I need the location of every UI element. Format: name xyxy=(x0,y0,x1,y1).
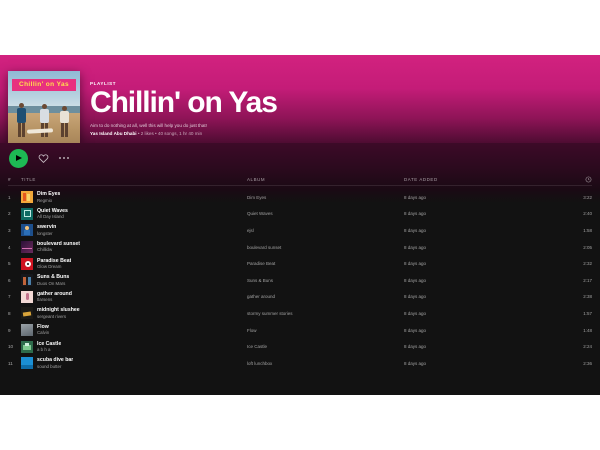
table-row[interactable]: 1Dim EyesRegmioDim Eyes8 days ago3:22 xyxy=(8,189,592,206)
track-date-added: 8 days ago xyxy=(404,311,564,316)
track-date-added: 8 days ago xyxy=(404,245,564,250)
track-index: 3 xyxy=(8,228,21,233)
track-duration: 3:22 xyxy=(583,195,592,200)
cover-art-title-text: Chillin' on Yas xyxy=(12,79,76,91)
track-thumbnail xyxy=(21,191,33,203)
play-icon xyxy=(16,155,22,161)
track-thumbnail xyxy=(21,324,33,336)
track-artist[interactable]: a b h a xyxy=(37,347,61,353)
playlist-likes: 2 likes xyxy=(141,131,154,136)
track-duration: 2:40 xyxy=(583,211,592,216)
column-header-title: TITLE xyxy=(21,177,247,182)
track-index: 4 xyxy=(8,245,21,250)
more-options-button[interactable] xyxy=(59,157,69,159)
playlist-metadata: Yas Island Abu Dhabi • 2 likes • 40 song… xyxy=(90,131,277,137)
meta-sep-2: • xyxy=(155,131,157,136)
track-thumbnail xyxy=(21,208,33,220)
track-album[interactable]: Dim Eyes xyxy=(247,195,404,200)
track-date-added: 8 days ago xyxy=(404,211,564,216)
table-row[interactable]: 9FlowCalvinFlow8 days ago1:48 xyxy=(8,322,592,339)
track-album[interactable]: stormy summer stories xyxy=(247,311,404,316)
column-header-duration xyxy=(585,176,592,183)
track-index: 8 xyxy=(8,311,21,316)
track-thumbnail xyxy=(21,241,33,253)
track-date-added: 8 days ago xyxy=(404,195,564,200)
track-duration: 2:17 xyxy=(583,278,592,283)
track-duration: 2:38 xyxy=(583,294,592,299)
meta-sep-1: • xyxy=(138,131,140,136)
track-index: 7 xyxy=(8,294,21,299)
track-duration: 2:32 xyxy=(583,261,592,266)
playlist-cover-art: Chillin' on Yas xyxy=(8,71,80,143)
track-thumbnail xyxy=(21,224,33,236)
track-album[interactable]: ejsl xyxy=(247,228,404,233)
track-artist[interactable]: Glow Dream xyxy=(37,264,71,270)
table-row[interactable]: 3swervinlongsterejsl8 days ago1:58 xyxy=(8,222,592,239)
track-title[interactable]: swervin xyxy=(37,224,56,230)
table-row[interactable]: 10Ice Castlea b h aIce Castle8 days ago2… xyxy=(8,338,592,355)
track-artist[interactable]: Duos On Mars xyxy=(37,281,69,287)
track-duration: 1:58 xyxy=(583,228,592,233)
track-artist[interactable]: Calvin xyxy=(37,330,49,336)
track-thumbnail xyxy=(21,307,33,319)
playlist-song-count: 40 songs xyxy=(158,131,177,136)
column-header-index: # xyxy=(8,177,21,182)
track-date-added: 8 days ago xyxy=(404,328,564,333)
track-date-added: 8 days ago xyxy=(404,294,564,299)
track-index: 10 xyxy=(8,344,21,349)
track-thumbnail xyxy=(21,341,33,353)
track-date-added: 8 days ago xyxy=(404,361,564,366)
like-button[interactable] xyxy=(38,153,49,164)
dot-icon xyxy=(67,157,69,159)
track-album[interactable]: Ice Castle xyxy=(247,344,404,349)
track-index: 6 xyxy=(8,278,21,283)
track-duration: 2:36 xyxy=(583,361,592,366)
track-date-added: 8 days ago xyxy=(404,278,564,283)
clock-icon xyxy=(585,176,592,183)
dot-icon xyxy=(63,157,65,159)
playlist-controls xyxy=(0,143,600,173)
track-duration: 1:57 xyxy=(583,311,592,316)
playlist-description: Aim to do nothing at all, well this will… xyxy=(90,123,277,129)
track-album[interactable]: Paradise Beat xyxy=(247,261,404,266)
track-index: 1 xyxy=(8,195,21,200)
table-row[interactable]: 5Paradise BeatGlow DreamParadise Beat8 d… xyxy=(8,255,592,272)
track-thumbnail xyxy=(21,291,33,303)
playlist-owner[interactable]: Yas Island Abu Dhabi xyxy=(90,131,137,136)
cover-art-title-band: Chillin' on Yas xyxy=(12,79,76,91)
track-artist[interactable]: sound butter xyxy=(37,364,73,370)
heart-icon xyxy=(38,153,49,164)
track-album[interactable]: Flow xyxy=(247,328,404,333)
track-list: 1Dim EyesRegmioDim Eyes8 days ago3:222Qu… xyxy=(8,189,592,372)
track-thumbnail xyxy=(21,274,33,286)
track-album[interactable]: Suns & Buns xyxy=(247,278,404,283)
track-date-added: 8 days ago xyxy=(404,261,564,266)
column-header-album: ALBUM xyxy=(247,177,404,182)
track-duration: 2:24 xyxy=(583,344,592,349)
track-table-header: # TITLE ALBUM DATE ADDED xyxy=(8,173,592,186)
track-index: 5 xyxy=(8,261,21,266)
playlist-total-duration: 1 hr 40 min xyxy=(179,131,202,136)
table-row[interactable]: 4boulevard sunsetChillidwboulevard sunse… xyxy=(8,239,592,256)
track-index: 11 xyxy=(8,361,21,366)
track-album[interactable]: Quiet Waves xyxy=(247,211,404,216)
track-title[interactable]: Suns & Buns xyxy=(37,274,69,280)
track-index: 9 xyxy=(8,328,21,333)
playlist-hero: Chillin' on Yas PLAYLIST Chillin' on Yas… xyxy=(0,55,600,143)
table-row[interactable]: 8midnight slusheesergeant riversstormy s… xyxy=(8,305,592,322)
dot-icon xyxy=(59,157,61,159)
table-row[interactable]: 2Quiet WavesAll Day IslandQuiet Waves8 d… xyxy=(8,206,592,223)
track-album[interactable]: gather around xyxy=(247,294,404,299)
track-duration: 1:48 xyxy=(583,328,592,333)
column-header-date-added: DATE ADDED xyxy=(404,177,564,182)
spotify-playlist-view: Chillin' on Yas PLAYLIST Chillin' on Yas… xyxy=(0,55,600,395)
track-title[interactable]: midnight slushee xyxy=(37,307,80,313)
track-table: # TITLE ALBUM DATE ADDED 1Dim EyesRegmio… xyxy=(0,173,600,372)
table-row[interactable]: 7gather aroundtlarsensgather around8 day… xyxy=(8,289,592,306)
track-date-added: 8 days ago xyxy=(404,228,564,233)
table-row[interactable]: 11scuba dive barsound butterloft lunchbo… xyxy=(8,355,592,372)
track-artist[interactable]: All Day Island xyxy=(37,214,68,220)
table-row[interactable]: 6Suns & BunsDuos On MarsSuns & Buns8 day… xyxy=(8,272,592,289)
track-thumbnail xyxy=(21,258,33,270)
track-thumbnail xyxy=(21,357,33,369)
play-button[interactable] xyxy=(9,149,28,168)
track-artist[interactable]: Chillidw xyxy=(37,247,80,253)
track-title[interactable]: scuba dive bar xyxy=(37,357,73,363)
track-artist[interactable]: sergeant rivers xyxy=(37,314,80,320)
track-title[interactable]: Dim Eyes xyxy=(37,191,60,197)
track-date-added: 8 days ago xyxy=(404,344,564,349)
track-artist[interactable]: tlarsens xyxy=(37,297,72,303)
track-artist[interactable]: longster xyxy=(37,231,56,237)
track-album[interactable]: boulevard sunset xyxy=(247,245,404,250)
track-index: 2 xyxy=(8,211,21,216)
page-title: Chillin' on Yas xyxy=(90,88,277,118)
track-album[interactable]: loft lunchbox xyxy=(247,361,404,366)
track-artist[interactable]: Regmio xyxy=(37,198,60,204)
track-duration: 2:05 xyxy=(583,245,592,250)
